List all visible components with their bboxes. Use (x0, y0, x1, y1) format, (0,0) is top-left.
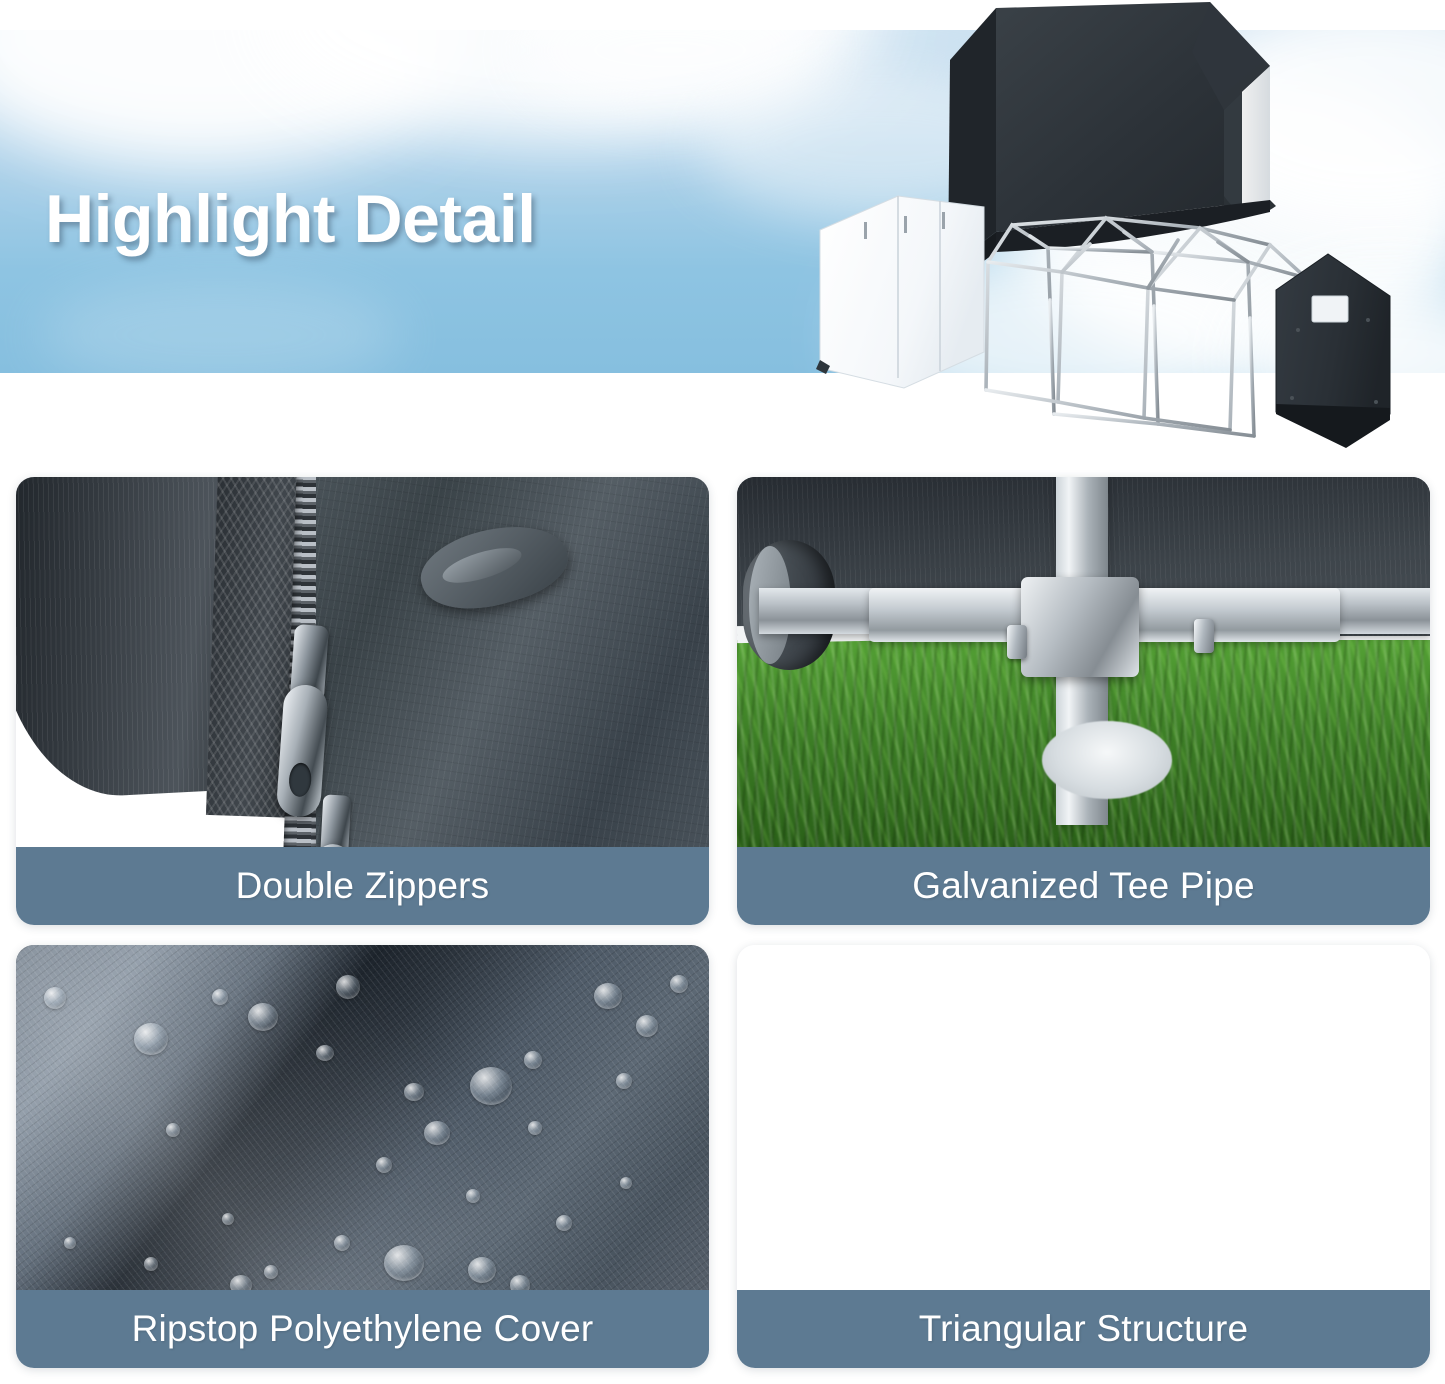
water-droplet (134, 1023, 168, 1055)
water-droplet (636, 1015, 658, 1037)
water-droplet (44, 987, 66, 1009)
galvanized-steel-frame-part (986, 218, 1310, 436)
product-parts-svg (800, 0, 1445, 450)
galvanized-tee-pipe-photo (737, 477, 1430, 847)
feature-card-triangular-structure: Triangular Structure (737, 945, 1430, 1368)
water-droplet (248, 1003, 278, 1031)
water-droplet (470, 1067, 512, 1105)
water-droplet (468, 1257, 496, 1283)
water-droplet (620, 1177, 632, 1189)
roof-cover-tarp-part (948, 2, 1276, 286)
double-zippers-photo (16, 477, 709, 847)
ripstop-cover-photo (16, 945, 709, 1290)
card-caption-text: Ripstop Polyethylene Cover (132, 1308, 594, 1350)
water-droplet (212, 989, 228, 1005)
water-droplet (556, 1215, 572, 1231)
card-caption-bar: Double Zippers (16, 847, 709, 925)
white-end-panel-part (816, 196, 984, 388)
card-caption-bar: Ripstop Polyethylene Cover (16, 1290, 709, 1368)
card-caption-text: Triangular Structure (919, 1308, 1249, 1350)
water-droplet (64, 1237, 76, 1249)
water-droplet (424, 1121, 450, 1145)
pipe-sleeve-right (1125, 588, 1340, 642)
water-droplet (230, 1275, 252, 1290)
tee-joint-bracket (1021, 577, 1139, 677)
exploded-product-illustration (800, 0, 1445, 450)
water-droplet (264, 1265, 278, 1279)
water-droplet (222, 1213, 234, 1225)
zipper-slider-lower (303, 794, 362, 847)
water-droplet (336, 975, 360, 999)
water-droplet (334, 1235, 350, 1251)
bolt-left (1007, 625, 1027, 659)
card-caption-text: Galvanized Tee Pipe (912, 865, 1255, 907)
water-droplet (594, 983, 622, 1009)
feature-card-ripstop-polyethylene-cover: Ripstop Polyethylene Cover (16, 945, 709, 1368)
feature-card-double-zippers: Double Zippers (16, 477, 709, 925)
water-droplet (316, 1045, 334, 1061)
water-droplet (616, 1073, 632, 1089)
bolt-right (1194, 619, 1214, 653)
door-end-panel-part (1276, 254, 1390, 448)
water-droplet (524, 1051, 542, 1069)
water-droplet (404, 1083, 424, 1101)
water-droplet (466, 1189, 480, 1203)
water-droplet (384, 1245, 424, 1281)
feature-card-galvanized-tee-pipe: Galvanized Tee Pipe (737, 477, 1430, 925)
card-caption-text: Double Zippers (236, 865, 490, 907)
page-title: Highlight Detail (45, 180, 536, 258)
triangular-structure-photo (737, 945, 1430, 1290)
water-droplet (166, 1123, 180, 1137)
card-caption-bar: Galvanized Tee Pipe (737, 847, 1430, 925)
water-droplet (376, 1157, 392, 1173)
water-droplet (510, 1275, 530, 1290)
water-droplet (144, 1257, 158, 1271)
water-droplet (528, 1121, 542, 1135)
base-foot-plate (1042, 721, 1172, 799)
card-caption-bar: Triangular Structure (737, 1290, 1430, 1368)
water-droplet (670, 975, 688, 993)
